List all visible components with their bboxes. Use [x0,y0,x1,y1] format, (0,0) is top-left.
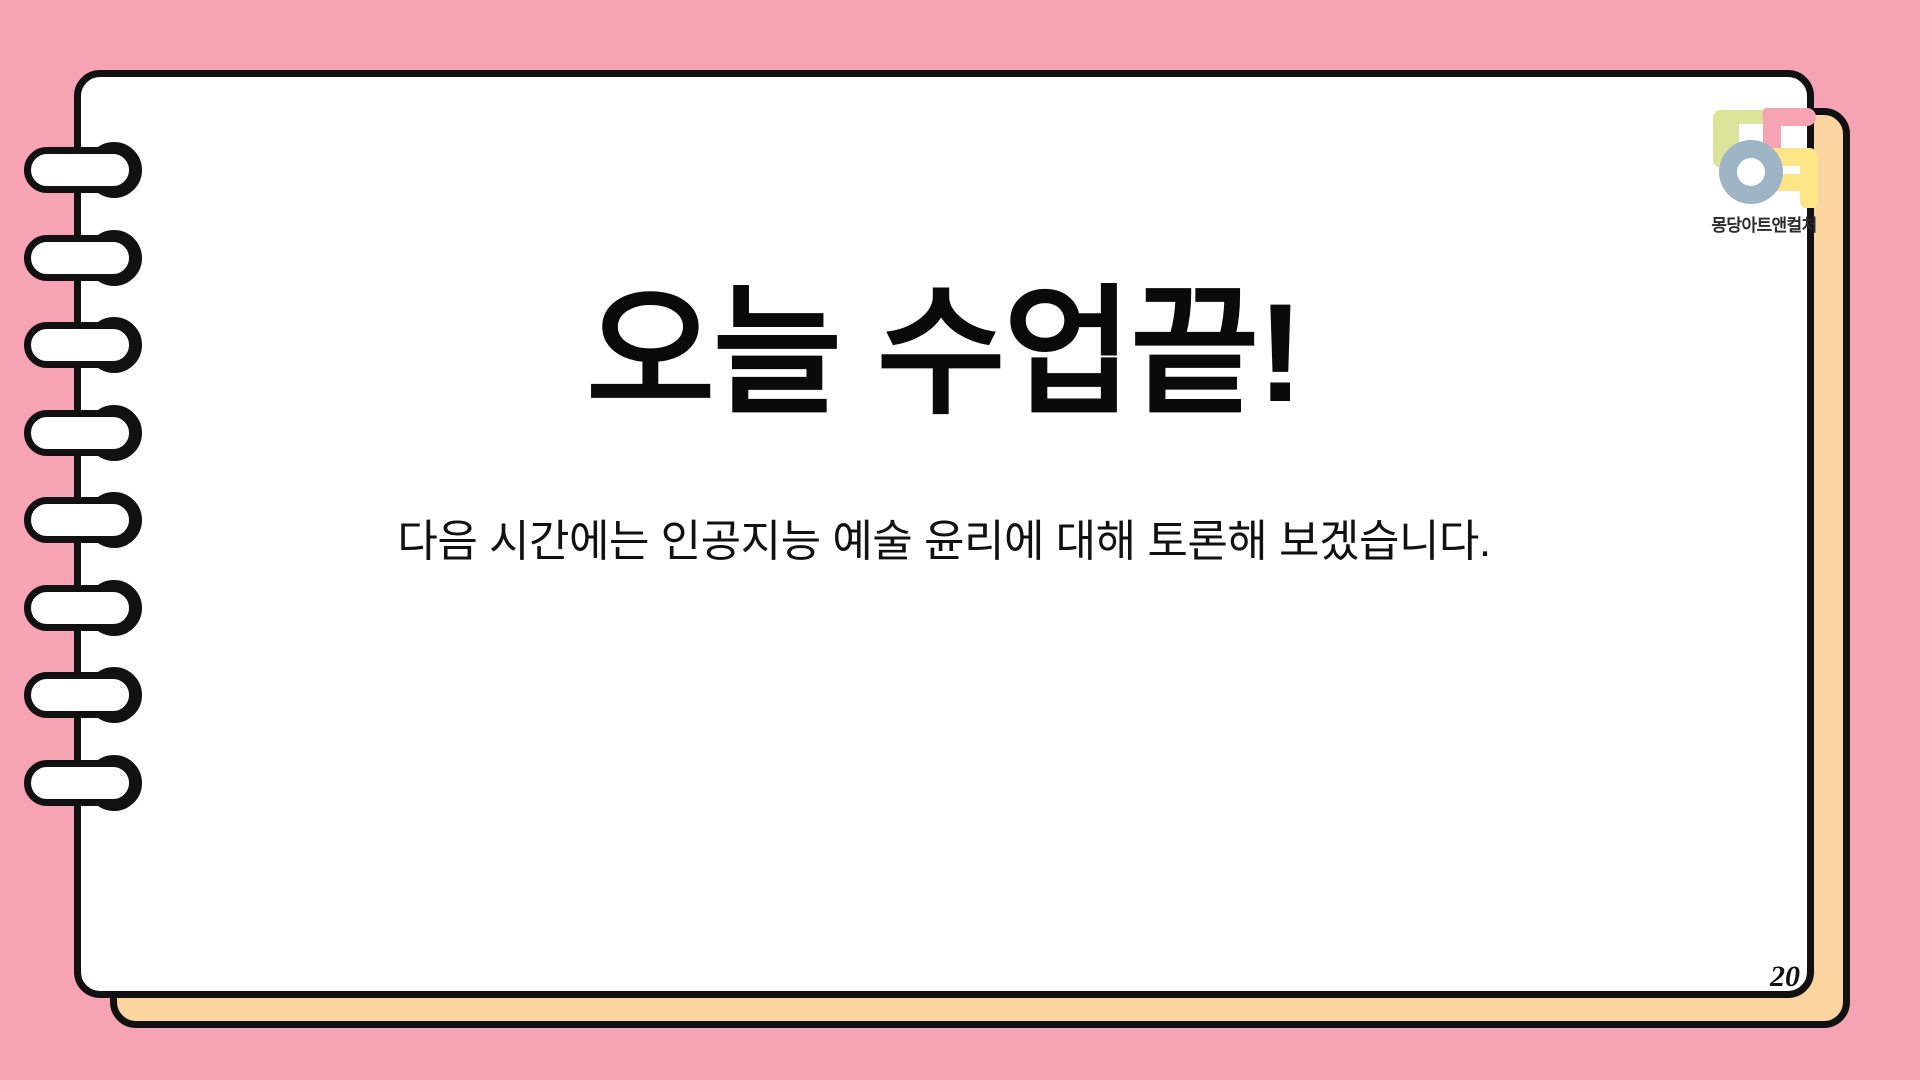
logo-mark-icon [1703,96,1825,208]
slide-canvas: 몽당아트앤컬처 오늘 수업끝! 다음 시간에는 인공지능 예술 윤리에 대해 토… [0,0,1920,1080]
logo-wordmark: 몽당아트앤컬처 [1694,211,1834,236]
notebook-page [74,70,1814,998]
page-number: 20 [1770,960,1800,994]
brand-logo: 몽당아트앤컬처 [1694,96,1834,236]
